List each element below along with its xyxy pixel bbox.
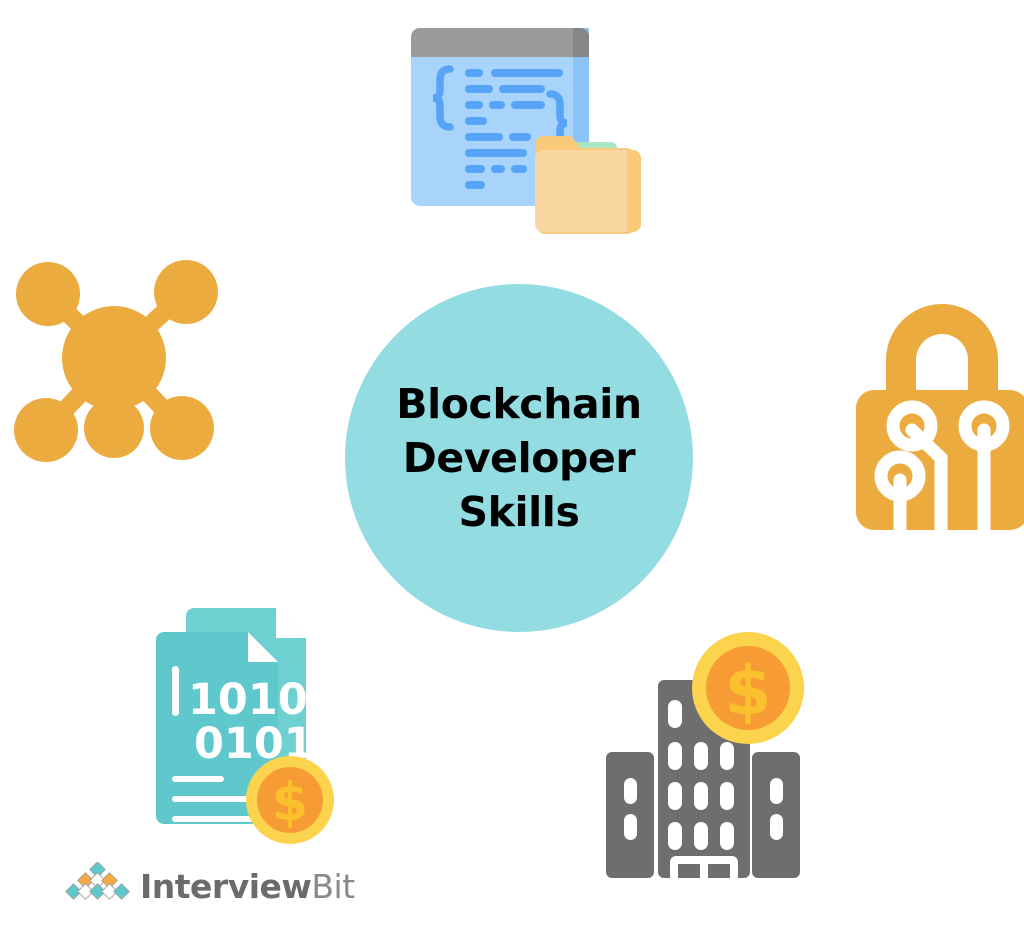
padlock-circuit-icon xyxy=(848,298,1024,530)
center-circle: Blockchain Developer Skills xyxy=(345,284,693,632)
smart-contract-svg: 1010 0101 $ xyxy=(150,608,345,848)
code-editor-icon xyxy=(405,22,655,237)
infographic-canvas: 1010 0101 $ xyxy=(0,0,1024,944)
interviewbit-logo-mark xyxy=(62,862,132,910)
interviewbit-logo[interactable]: InterviewBit xyxy=(62,860,322,912)
padlock-circuit-svg xyxy=(848,298,1024,530)
logo-text-light: Bit xyxy=(311,867,354,906)
code-editor-svg xyxy=(405,22,655,237)
dollar-sign-icon: $ xyxy=(272,773,308,833)
interviewbit-logo-text: InterviewBit xyxy=(140,870,355,903)
bank-buildings-svg: $ xyxy=(600,630,820,880)
logo-text-bold: Interview xyxy=(140,867,311,906)
network-nodes-icon xyxy=(8,252,220,464)
dollar-sign-icon: $ xyxy=(724,652,771,731)
binary-line-1: 1010 xyxy=(188,675,308,725)
network-nodes-svg xyxy=(8,252,220,464)
page-title: Blockchain Developer Skills xyxy=(396,377,641,539)
bank-buildings-icon: $ xyxy=(600,630,820,880)
smart-contract-document-icon: 1010 0101 $ xyxy=(150,608,345,848)
